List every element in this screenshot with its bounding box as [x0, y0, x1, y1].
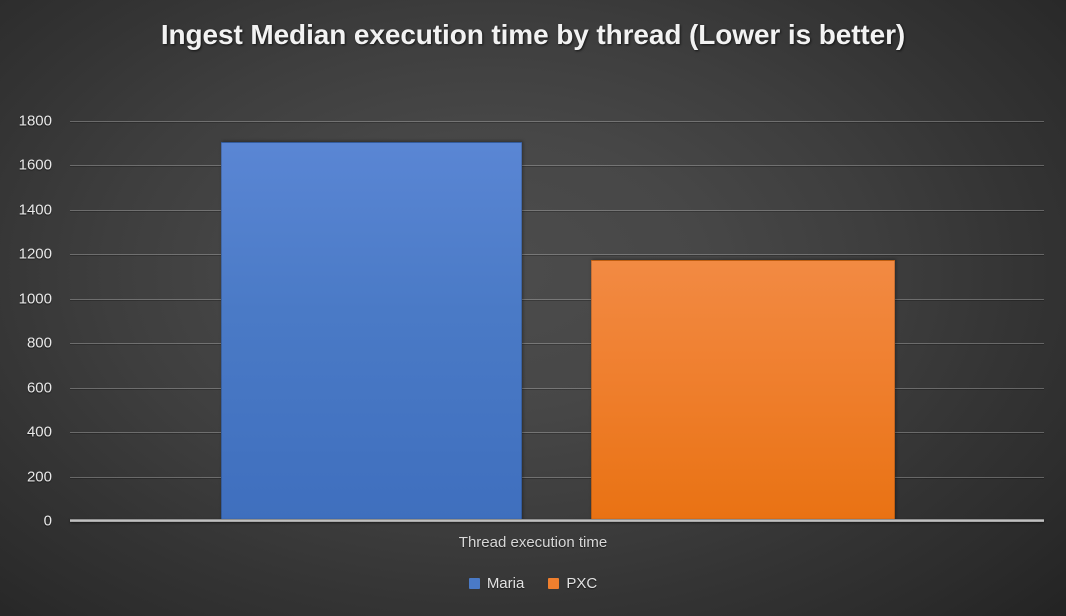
gridline-600 [70, 388, 1044, 389]
y-tick-1400: 1400 [0, 201, 52, 218]
y-tick-200: 200 [0, 468, 52, 485]
y-tick-0: 0 [0, 513, 52, 530]
gridline-1600 [70, 165, 1044, 166]
y-tick-1000: 1000 [0, 290, 52, 307]
chart-title: Ingest Median execution time by thread (… [90, 16, 976, 53]
gridline-200 [70, 477, 1044, 478]
x-axis-line [70, 519, 1044, 522]
legend-label-pxc: PXC [566, 575, 597, 592]
y-tick-1600: 1600 [0, 157, 52, 174]
y-tick-1200: 1200 [0, 246, 52, 263]
gridline-1800 [70, 121, 1044, 122]
gridline-1200 [70, 254, 1044, 255]
slide-background: Ingest Median execution time by thread (… [0, 0, 1066, 616]
gridline-1400 [70, 210, 1044, 211]
gridline-400 [70, 432, 1044, 433]
plot-area [70, 121, 1044, 521]
legend-swatch-maria [469, 578, 480, 589]
y-tick-400: 400 [0, 424, 52, 441]
legend-label-maria: Maria [487, 575, 525, 592]
x-axis-label: Thread execution time [0, 534, 1066, 551]
legend-swatch-pxc [548, 578, 559, 589]
gridline-800 [70, 343, 1044, 344]
bar-pxc[interactable] [591, 260, 895, 521]
chart-legend: Maria PXC [0, 575, 1066, 592]
y-tick-600: 600 [0, 379, 52, 396]
y-tick-1800: 1800 [0, 113, 52, 130]
y-tick-800: 800 [0, 335, 52, 352]
legend-item-pxc[interactable]: PXC [548, 575, 597, 592]
bar-maria[interactable] [221, 142, 522, 521]
gridline-1000 [70, 299, 1044, 300]
legend-item-maria[interactable]: Maria [469, 575, 525, 592]
